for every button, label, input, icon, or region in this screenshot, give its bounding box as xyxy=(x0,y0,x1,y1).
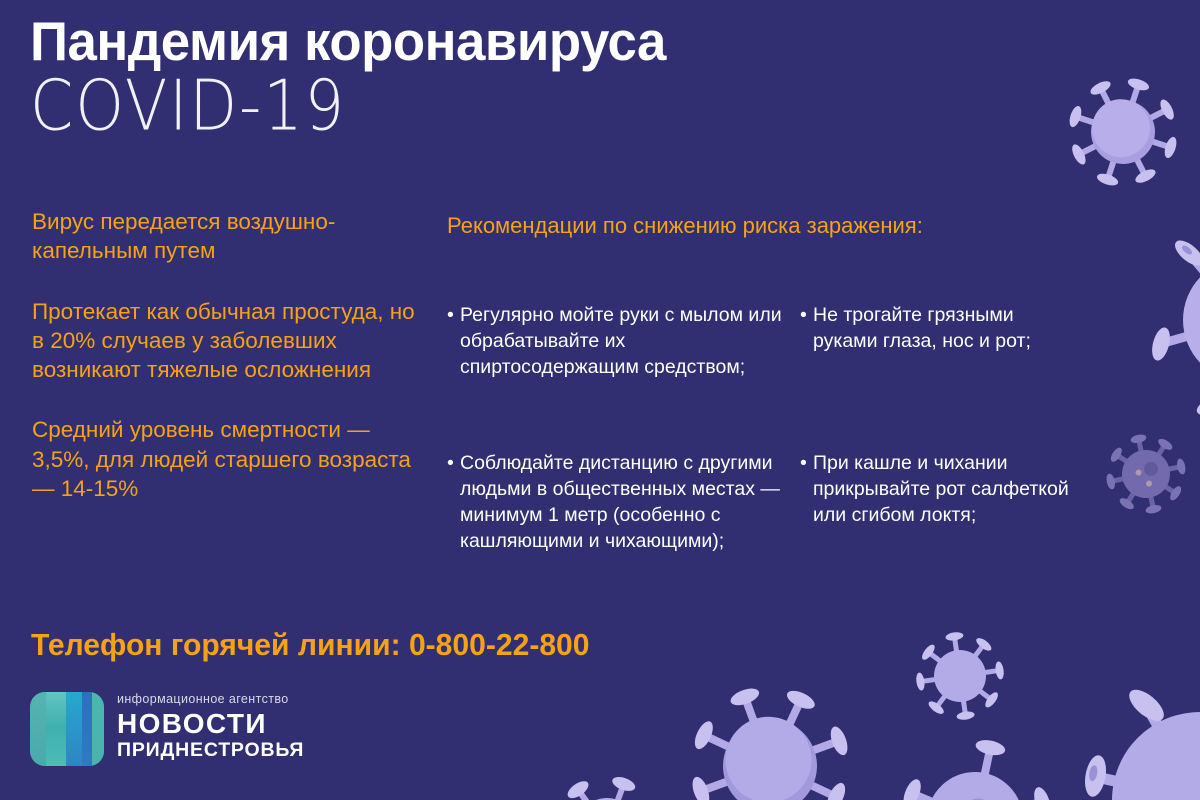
logo-wordmark: информационное агентство НОВОСТИ ПРИДНЕС… xyxy=(117,692,304,761)
page-title: Пандемия коронавируса xyxy=(30,14,798,69)
title-block: Пандемия коронавируса COVID-19 xyxy=(30,14,830,137)
logo-region: ПРИДНЕСТРОВЬЯ xyxy=(117,740,304,761)
recommendations-column-left: • Регулярно мойте руки с мылом или обраб… xyxy=(447,303,783,599)
poster-content: Пандемия коронавируса COVID-19 Вирус пер… xyxy=(0,0,1200,800)
list-item: • Не трогайте грязными руками глаза, нос… xyxy=(800,303,1072,425)
hotline-text: Телефон горячей линии: 0-800-22-800 xyxy=(31,629,590,662)
infographic-poster: Пандемия коронавируса COVID-19 Вирус пер… xyxy=(0,0,1200,800)
logo-tagline: информационное агентство xyxy=(117,693,304,707)
bullet-marker-icon: • xyxy=(800,451,807,477)
recommendations-heading: Рекомендации по снижению риска заражения… xyxy=(447,211,967,240)
fact-item: Вирус передается воздушно-капельным путе… xyxy=(32,207,432,266)
bullet-marker-icon: • xyxy=(800,303,807,329)
facts-list: Вирус передается воздушно-капельным путе… xyxy=(32,207,432,503)
list-item-text: Соблюдайте дистанцию с другими людьми в … xyxy=(460,452,780,552)
page-subtitle: COVID-19 xyxy=(30,71,782,141)
list-item-text: Не трогайте грязными руками глаза, нос и… xyxy=(813,304,1031,352)
logo-name: НОВОСТИ xyxy=(117,710,304,738)
list-item: • При кашле и чихании прикрывайте рот са… xyxy=(800,451,1072,573)
fact-item: Средний уровень смертности — 3,5%, для л… xyxy=(32,415,432,503)
fact-item: Протекает как обычная простуда, но в 20%… xyxy=(32,297,432,385)
list-item: • Соблюдайте дистанцию с другими людьми … xyxy=(447,451,783,573)
recommendations-column-right: • Не трогайте грязными руками глаза, нос… xyxy=(800,303,1072,599)
list-item-text: Регулярно мойте руки с мылом или обрабат… xyxy=(460,304,782,378)
list-item-text: При кашле и чихании прикрывайте рот салф… xyxy=(813,452,1069,526)
bullet-marker-icon: • xyxy=(447,303,454,329)
agency-logo: информационное агентство НОВОСТИ ПРИДНЕС… xyxy=(30,692,304,766)
logo-mark-icon xyxy=(30,692,104,766)
bullet-marker-icon: • xyxy=(447,451,454,477)
list-item: • Регулярно мойте руки с мылом или обраб… xyxy=(447,303,783,425)
